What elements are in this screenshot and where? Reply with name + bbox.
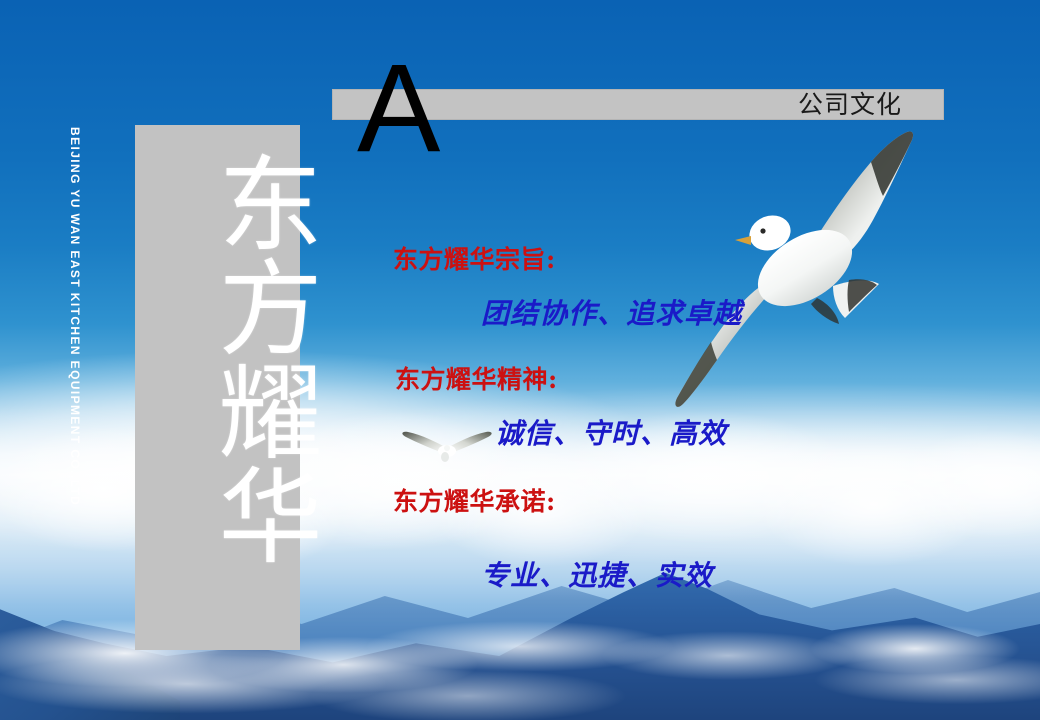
culture-body: 诚信、守时、高效: [495, 412, 727, 452]
culture-block-promise: 东方耀华承诺: 专业、迅捷、实效: [393, 482, 713, 594]
brand-english-name: BEIJING YU WAN EAST KITCHEN EQUIPMENT CO…: [68, 127, 82, 457]
page-title: 公司文化: [798, 90, 902, 120]
culture-block-spirit: 东方耀华精神: 诚信、守时、高效: [395, 360, 727, 452]
slide-canvas: 东方耀华 BEIJING YU WAN EAST KITCHEN EQUIPME…: [0, 0, 1040, 720]
mountain-mist-lower: [0, 640, 1040, 720]
brand-chinese-name: 东方耀华: [200, 150, 320, 566]
culture-block-purpose: 东方耀华宗旨: 团结协作、追求卓越: [393, 240, 742, 332]
culture-body: 专业、迅捷、实效: [481, 554, 713, 594]
culture-body: 团结协作、追求卓越: [481, 292, 742, 332]
section-marker-letter: A: [357, 46, 440, 171]
culture-heading: 东方耀华承诺:: [393, 482, 713, 518]
culture-heading: 东方耀华精神:: [395, 360, 727, 396]
culture-heading: 东方耀华宗旨:: [393, 240, 742, 276]
